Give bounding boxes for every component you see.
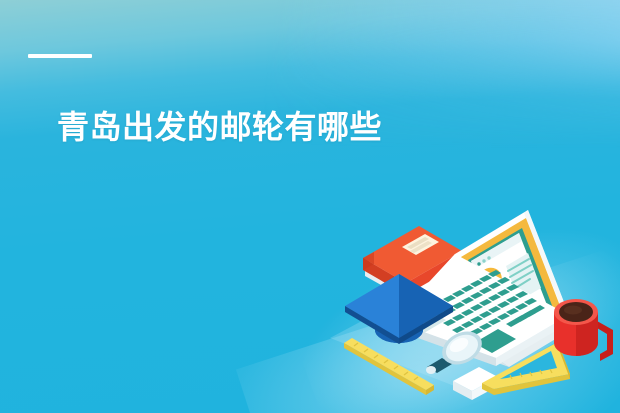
page-canvas: 青岛出发的邮轮有哪些 [0,0,620,413]
coffee-mug-icon [554,299,613,361]
page-title: 青岛出发的邮轮有哪些 [57,107,382,147]
title-accent-bar [28,54,92,58]
study-illustration [330,178,620,413]
